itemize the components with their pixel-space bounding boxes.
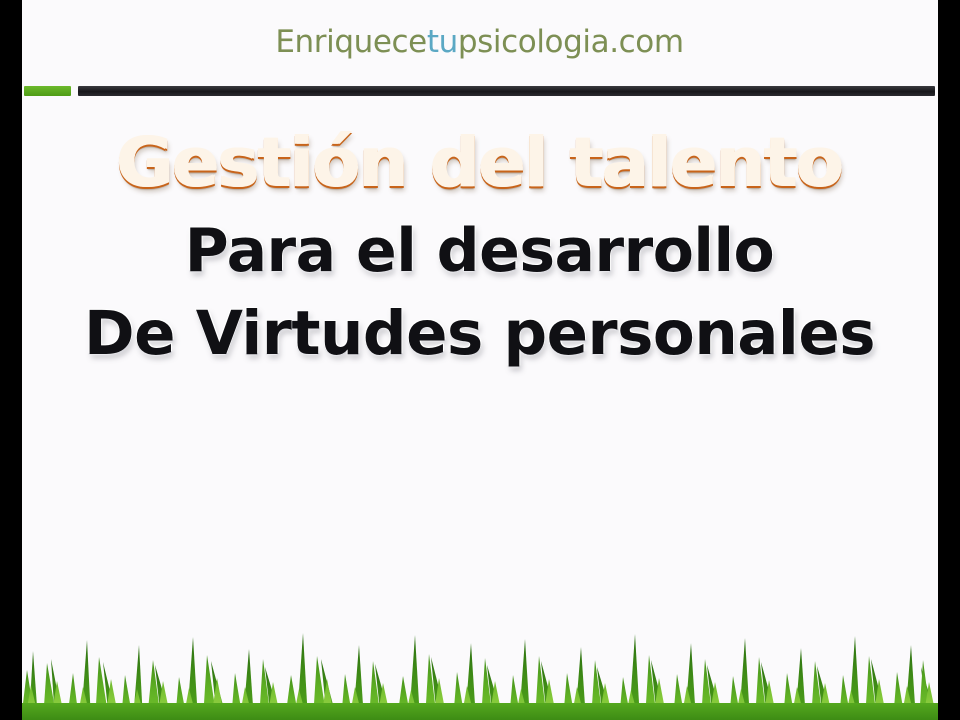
slide-canvas: Enriquecetupsicologia.com Gestión del ta… <box>21 0 938 720</box>
headline-group: Gestión del talento Para el desarrollo D… <box>21 130 938 364</box>
divider-accent-segment <box>24 86 71 96</box>
header: Enriquecetupsicologia.com <box>21 0 938 80</box>
grass-svg <box>21 615 938 720</box>
logo-part-tu: tu <box>427 24 458 60</box>
video-frame: Enriquecetupsicologia.com Gestión del ta… <box>0 0 960 720</box>
site-logo[interactable]: Enriquecetupsicologia.com <box>275 27 683 58</box>
grass-base <box>21 703 938 720</box>
headline-secondary: Para el desarrollo <box>21 221 938 281</box>
logo-part-enriquece: Enriquece <box>275 24 427 60</box>
headline-tertiary: De Virtudes personales <box>21 303 938 364</box>
letterbox-bar-left <box>0 0 22 720</box>
grass-illustration <box>21 615 938 720</box>
divider-main-bar <box>78 86 935 96</box>
letterbox-bar-right <box>938 0 960 720</box>
headline-primary-text: Gestión del talento <box>116 124 842 204</box>
headline-primary: Gestión del talento <box>21 130 938 199</box>
header-divider <box>21 85 938 97</box>
logo-part-psicologia: psicologia.com <box>458 24 684 60</box>
